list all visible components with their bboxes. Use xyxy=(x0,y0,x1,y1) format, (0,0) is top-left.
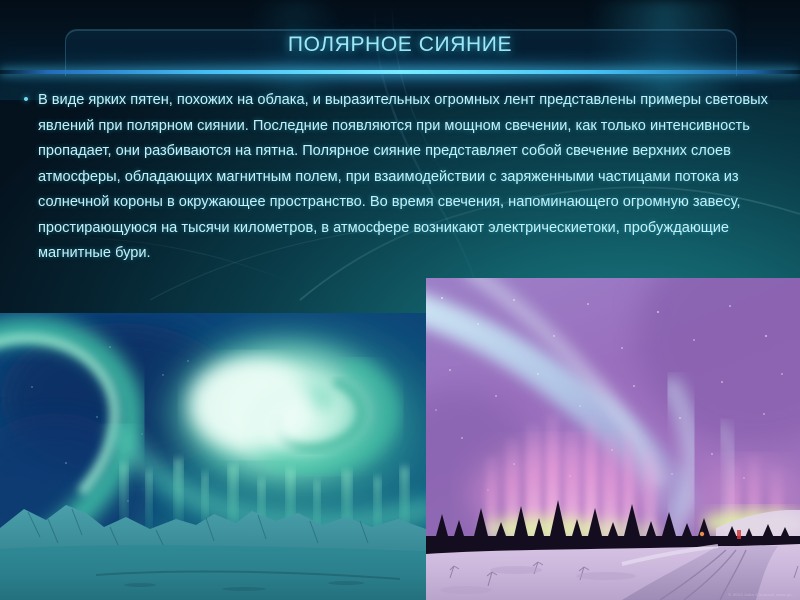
body-bullet-item: • В виде ярких пятен, похожих на облака,… xyxy=(14,88,786,267)
photo-watermark: © 2010 John Chumack www.ga... xyxy=(728,592,796,597)
bullet-point-icon: • xyxy=(14,88,38,267)
aurora-photo-right: © 2010 John Chumack www.ga... xyxy=(426,278,800,600)
aurora-photo-left xyxy=(0,313,426,600)
body-paragraph: В виде ярких пятен, похожих на облака, и… xyxy=(38,88,786,267)
title-underline-beam xyxy=(0,70,800,74)
page-title: ПОЛЯРНОЕ СИЯНИЕ xyxy=(0,33,800,57)
slide-canvas: ПОЛЯРНОЕ СИЯНИЕ • В виде ярких пятен, по… xyxy=(0,0,800,600)
